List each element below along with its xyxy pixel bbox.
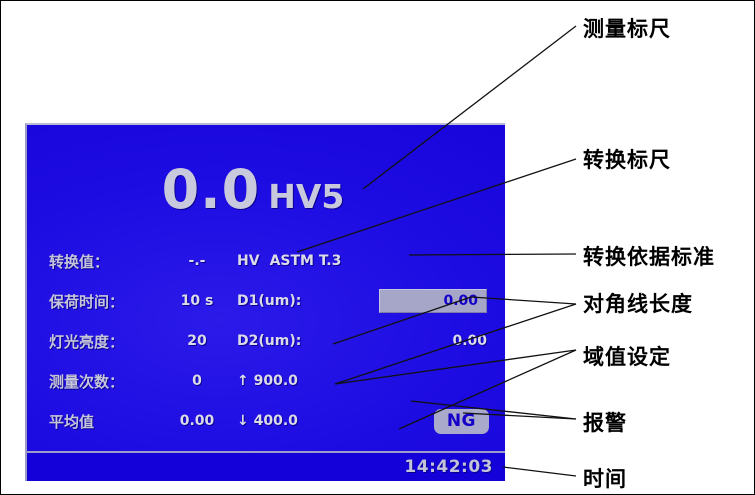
label-measure-count: 测量次数： (49, 371, 161, 392)
annotation-label-5: 报警 (583, 407, 627, 437)
conversion-scale-label: HV (237, 253, 260, 269)
value-conversion-value[interactable]: -.- (161, 253, 233, 269)
row-average-value: 平均值 0.00 ↓ 400.0 NG (49, 401, 495, 441)
annotation-label-0: 测量标尺 (583, 13, 671, 43)
label-dwell-time: 保荷时间： (49, 291, 161, 312)
clock-display: 14:42:03 (404, 457, 493, 477)
d1-input-field[interactable]: 0.00 (379, 289, 487, 313)
annotation-label-2: 转换依据标准 (583, 241, 715, 271)
screenshot-root: 0.0HV5 转换值： -.- HVASTM T.3 保荷时间： 10 s D1… (0, 0, 755, 495)
annotation-label-1: 转换标尺 (583, 144, 671, 174)
upper-threshold-value[interactable]: ↑ 900.0 (233, 373, 339, 389)
main-reading: 0.0HV5 (27, 163, 479, 217)
d2-value[interactable]: 0.00 (339, 333, 495, 349)
main-reading-value: 0.0 (162, 158, 261, 221)
alarm-badge-wrap: NG (339, 409, 495, 434)
row-lamp-brightness: 灯光亮度： 20 D2(um): 0.00 (49, 321, 495, 361)
instrument-lcd-panel: 0.0HV5 转换值： -.- HVASTM T.3 保荷时间： 10 s D1… (25, 123, 505, 481)
row-dwell-time: 保荷时间： 10 s D1(um): 0.00 (49, 281, 495, 321)
annotation-leader-6 (503, 467, 576, 476)
annotation-label-3: 对角线长度 (583, 288, 693, 318)
main-reading-scale: HV5 (268, 177, 344, 216)
conversion-standard-value: ASTM T.3 (270, 253, 342, 269)
lower-threshold-value[interactable]: ↓ 400.0 (233, 413, 339, 429)
lcd-status-bar: 14:42:03 (27, 453, 505, 481)
label-average-value: 平均值 (49, 411, 161, 432)
label-lamp-brightness: 灯光亮度： (49, 331, 161, 352)
annotation-label-6: 时间 (583, 463, 627, 493)
row-measure-count: 测量次数： 0 ↑ 900.0 (49, 361, 495, 401)
parameter-rows: 转换值： -.- HVASTM T.3 保荷时间： 10 s D1(um): 0… (49, 241, 495, 441)
label-conversion-value: 转换值： (49, 251, 161, 272)
value-dwell-time[interactable]: 10 s (161, 293, 233, 309)
value-lamp-brightness[interactable]: 20 (161, 333, 233, 349)
label-d1: D1(um): (233, 293, 339, 309)
d1-field-wrap: 0.00 (339, 289, 495, 313)
conversion-standard[interactable]: HVASTM T.3 (233, 253, 495, 269)
value-measure-count[interactable]: 0 (161, 373, 233, 389)
label-d2: D2(um): (233, 333, 339, 349)
annotation-label-4: 域值设定 (583, 341, 671, 371)
value-average-value[interactable]: 0.00 (161, 413, 233, 429)
status-badge-ng[interactable]: NG (434, 409, 489, 434)
row-conversion-value: 转换值： -.- HVASTM T.3 (49, 241, 495, 281)
